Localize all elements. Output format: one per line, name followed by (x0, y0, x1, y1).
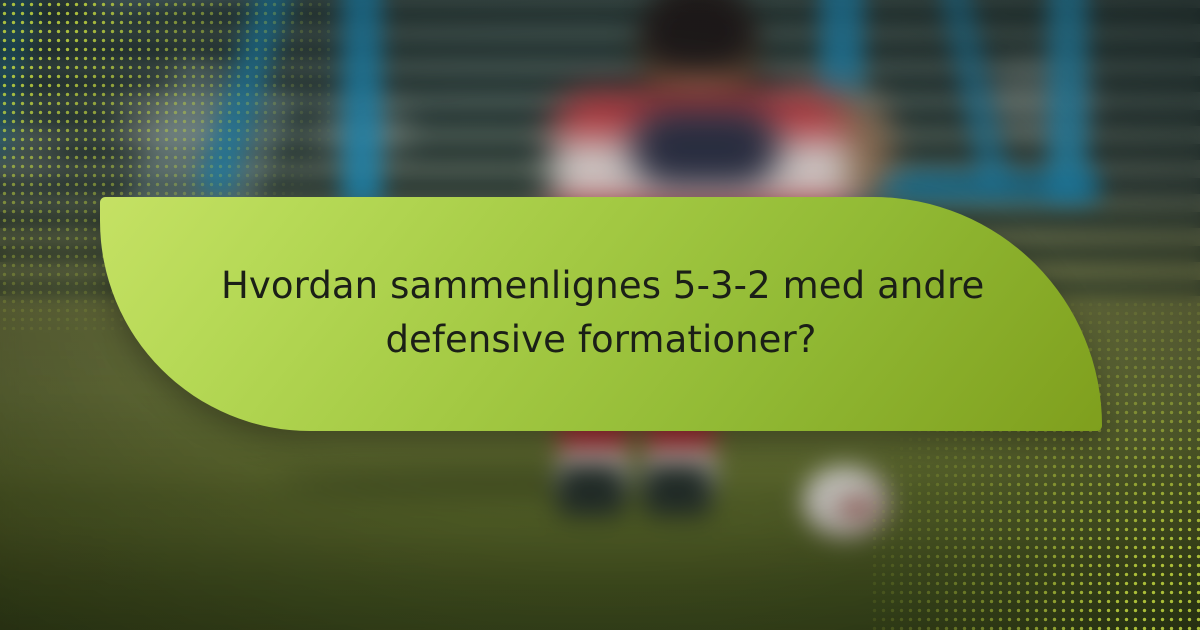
question-line-2: defensive formationer? (221, 313, 981, 367)
question-line-1: Hvordan sammenlignes 5-3-2 med andre (221, 259, 981, 313)
question-text: Hvordan sammenlignes 5-3-2 med andre def… (221, 259, 981, 369)
question-card: Hvordan sammenlignes 5-3-2 med andre def… (100, 197, 1102, 431)
social-card-canvas: Hvordan sammenlignes 5-3-2 med andre def… (0, 0, 1200, 630)
